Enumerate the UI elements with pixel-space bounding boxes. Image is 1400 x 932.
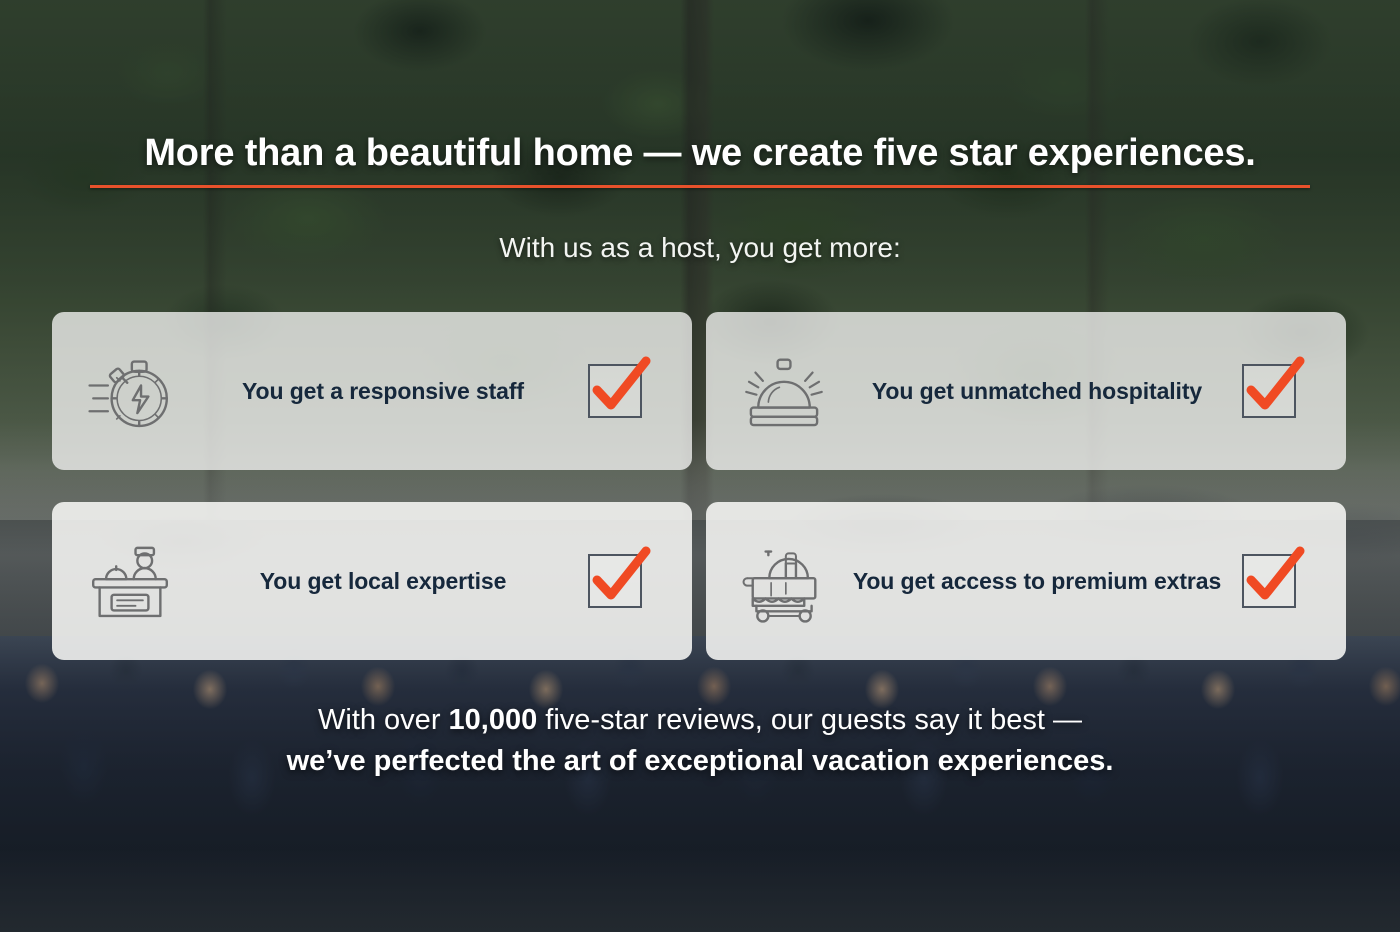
headline-underline-rule [90,185,1310,188]
benefit-card-responsive-staff[interactable]: You get a responsive staff [52,312,692,470]
check-icon [1238,544,1308,614]
footer-testimonial: With over 10,000 five-star reviews, our … [0,700,1400,782]
benefit-checkbox[interactable] [1242,364,1296,418]
benefit-card-label: You get unmatched hospitality [832,378,1242,405]
footer-line-1-prefix: With over [318,704,449,736]
service-bell-icon [736,343,832,439]
benefit-card-label: You get local expertise [178,568,588,595]
check-icon [1238,354,1308,424]
room-service-cart-icon [736,533,832,629]
benefit-card-grid: You get a responsive staff [52,312,1346,660]
benefit-checkbox[interactable] [588,554,642,608]
benefit-card-premium-extras[interactable]: You get access to premium extras [706,502,1346,660]
headline: More than a beautiful home — we create f… [0,132,1400,175]
stopwatch-bolt-icon [82,343,178,439]
slide-content: More than a beautiful home — we create f… [0,0,1400,932]
footer-line-1: With over 10,000 five-star reviews, our … [0,700,1400,741]
benefit-card-local-expertise[interactable]: You get local expertise [52,502,692,660]
subtitle: With us as a host, you get more: [0,232,1400,264]
concierge-desk-icon [82,533,178,629]
footer-review-count: 10,000 [449,704,538,736]
benefit-card-label: You get access to premium extras [832,568,1242,595]
footer-line-2: we’ve perfected the art of exceptional v… [0,741,1400,782]
benefit-card-hospitality[interactable]: You get unmatched hospitality [706,312,1346,470]
footer-line-1-suffix: five-star reviews, our guests say it bes… [537,704,1082,736]
benefit-checkbox[interactable] [588,364,642,418]
benefit-card-label: You get a responsive staff [178,378,588,405]
slide-root: More than a beautiful home — we create f… [0,0,1400,932]
check-icon [584,354,654,424]
check-icon [584,544,654,614]
benefit-checkbox[interactable] [1242,554,1296,608]
